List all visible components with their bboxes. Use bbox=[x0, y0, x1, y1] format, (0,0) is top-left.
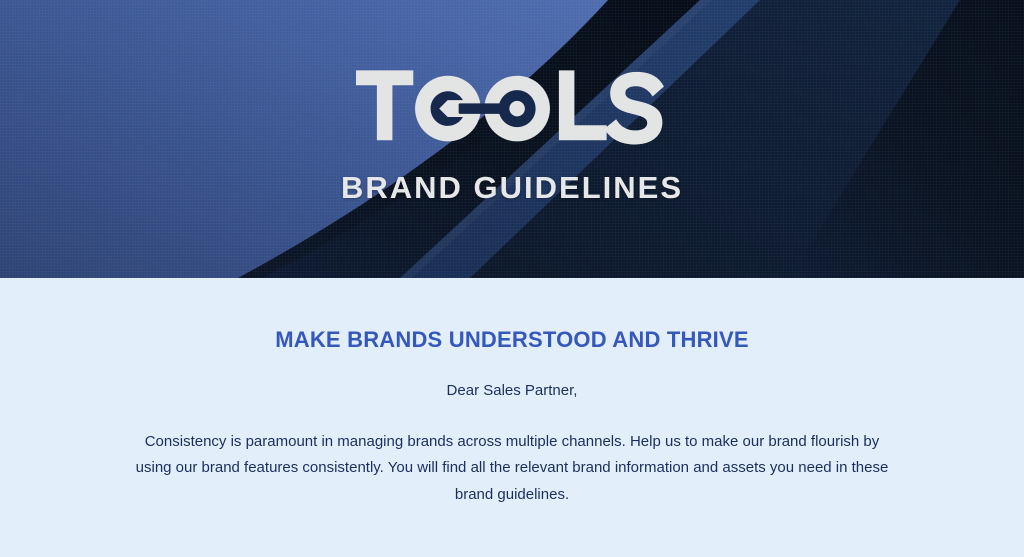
hero-content: BRAND GUIDELINES bbox=[0, 0, 1024, 278]
wrench-ring-center bbox=[509, 101, 524, 116]
intro-paragraph: Consistency is paramount in managing bra… bbox=[132, 429, 892, 509]
brand-guidelines-page: BRAND GUIDELINES MAKE BRANDS UNDERSTOOD … bbox=[0, 0, 1024, 557]
hero-tagline: BRAND GUIDELINES bbox=[341, 172, 683, 203]
intro-panel: MAKE BRANDS UNDERSTOOD AND THRIVE Dear S… bbox=[0, 278, 1024, 557]
brand-logo bbox=[356, 68, 669, 142]
tools-logo-mark bbox=[356, 68, 669, 142]
salutation-text: Dear Sales Partner, bbox=[447, 380, 578, 403]
hero-banner: BRAND GUIDELINES bbox=[0, 0, 1024, 278]
page-title: MAKE BRANDS UNDERSTOOD AND THRIVE bbox=[275, 328, 749, 352]
